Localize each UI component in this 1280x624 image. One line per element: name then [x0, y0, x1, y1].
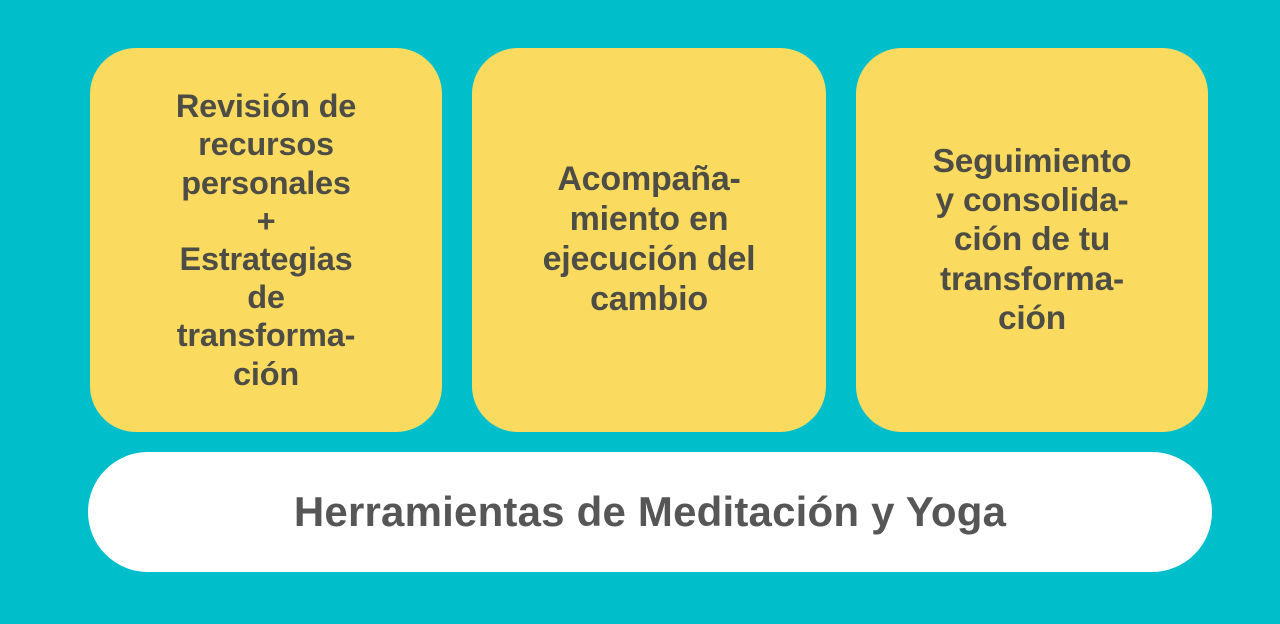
card-revision-recursos-text: Revisión de recursos personales + Estrat…	[176, 87, 356, 393]
banner-herramientas[interactable]: Herramientas de Meditación y Yoga	[88, 452, 1212, 572]
card-revision-recursos[interactable]: Revisión de recursos personales + Estrat…	[90, 48, 442, 432]
slide-canvas: Revisión de recursos personales + Estrat…	[0, 0, 1280, 624]
banner-herramientas-text: Herramientas de Meditación y Yoga	[294, 488, 1006, 536]
card-acompanamiento-text: Acompaña- miento en ejecución del cambio	[543, 160, 756, 320]
card-acompanamiento[interactable]: Acompaña- miento en ejecución del cambio	[472, 48, 826, 432]
cards-row: Revisión de recursos personales + Estrat…	[90, 48, 1208, 432]
card-seguimiento-text: Seguimiento y consolida- ción de tu tran…	[933, 142, 1132, 339]
card-seguimiento[interactable]: Seguimiento y consolida- ción de tu tran…	[856, 48, 1208, 432]
